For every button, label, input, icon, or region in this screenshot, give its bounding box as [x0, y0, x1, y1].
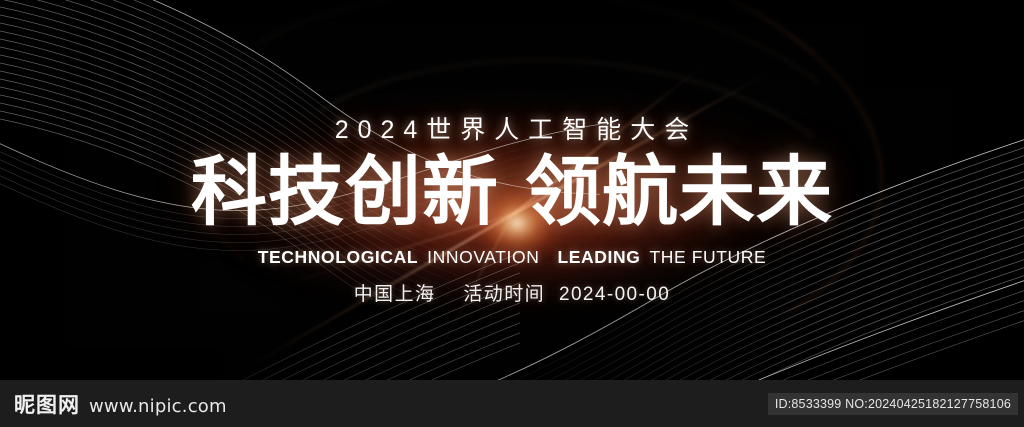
- watermark-brand[interactable]: 昵图网 www.nipic.com: [14, 389, 227, 419]
- asset-id-chip: ID:8533399 NO:20240425182127758106: [768, 393, 1018, 415]
- subtitle-en-bold-2: LEADING: [557, 247, 640, 267]
- nipic-logo: 昵图网: [14, 389, 80, 419]
- subtitle-english: TECHNOLOGICALINNOVATIONLEADINGTHE FUTURE: [0, 247, 1024, 268]
- headline-part-2: 领航未来: [525, 150, 833, 235]
- page-title: 科技创新领航未来: [0, 155, 1024, 231]
- subtitle-en-bold-1: TECHNOLOGICAL: [258, 247, 418, 267]
- subtitle-chinese: 中国上海活动时间2024-00-00: [0, 279, 1024, 306]
- event-eyebrow: 2024世界人工智能大会: [9, 118, 1024, 143]
- subtitle-en-regular-2: THE FUTURE: [649, 247, 766, 267]
- event-date-value: 2024-00-00: [559, 284, 670, 305]
- watermark-bar: 昵图网 www.nipic.com ID:8533399 NO:20240425…: [0, 380, 1024, 427]
- nipic-url[interactable]: www.nipic.com: [89, 396, 227, 417]
- conference-banner: 2024世界人工智能大会 科技创新领航未来 TECHNOLOGICALINNOV…: [0, 0, 1024, 427]
- event-location: 中国上海: [354, 284, 436, 305]
- hero-content: 2024世界人工智能大会 科技创新领航未来 TECHNOLOGICALINNOV…: [0, 118, 1024, 306]
- event-date-label: 活动时间: [463, 284, 545, 305]
- headline-part-1: 科技创新: [191, 150, 499, 235]
- subtitle-en-regular-1: INNOVATION: [427, 247, 539, 267]
